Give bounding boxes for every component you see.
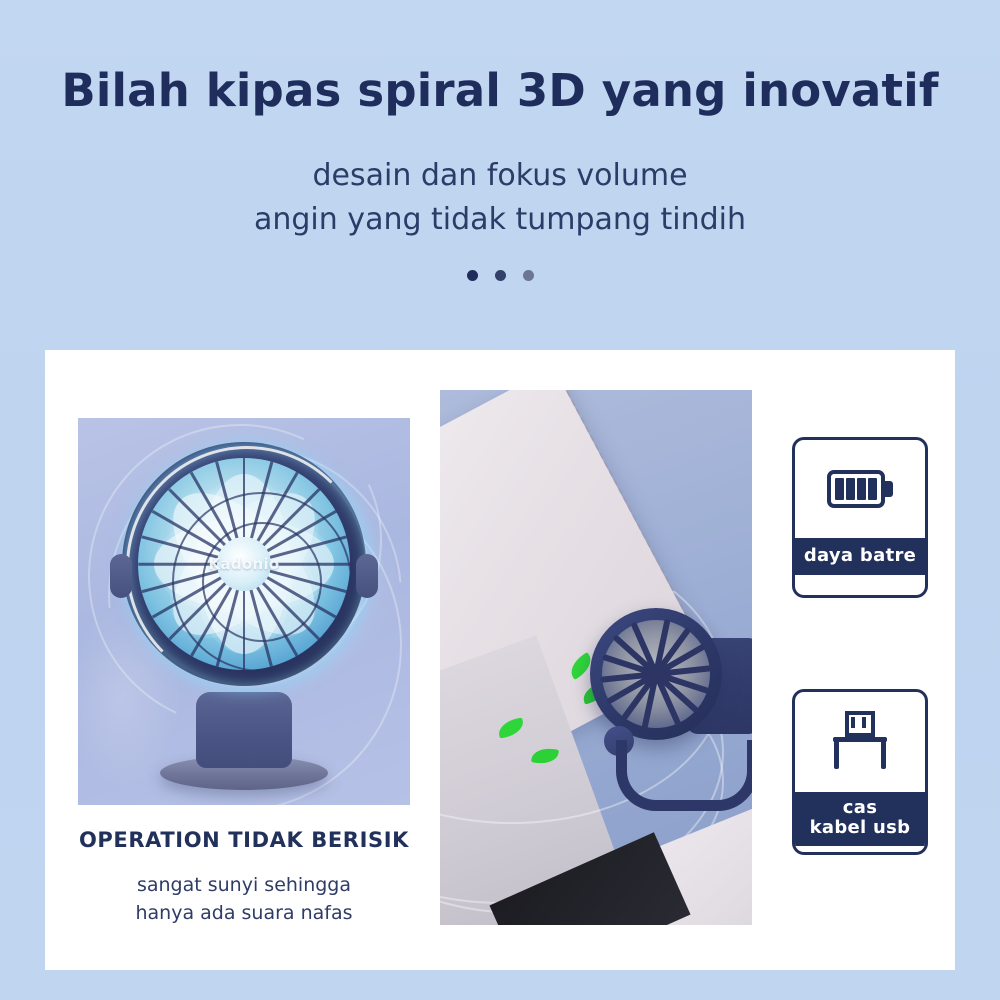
photo-caption-line-2: hanya ada suara nafas	[78, 902, 410, 924]
feature-badge-usb-label-line-2: kabel usb	[797, 818, 923, 838]
page-subline-1: desain dan fokus volume	[0, 158, 1000, 193]
photo-caption-line-1: sangat sunyi sehingga	[78, 874, 410, 896]
feature-badge-usb-label-line-1: cas	[797, 798, 923, 818]
fan-pivot-right	[356, 554, 378, 598]
fan-pivot-left	[110, 554, 132, 598]
page-headline: Bilah kipas spiral 3D yang inovatif	[0, 64, 1000, 117]
clip-fan-clamp	[616, 740, 752, 811]
glow-ring	[126, 446, 368, 688]
clip-fan-illustration	[590, 608, 752, 808]
feature-badge-battery: daya batre	[792, 437, 928, 598]
dot-icon	[467, 270, 478, 281]
desk-fan-illustration: Kadonio	[108, 436, 380, 796]
usb-plug-icon	[795, 692, 925, 792]
clip-fan-head	[590, 608, 722, 740]
dot-icon	[523, 270, 534, 281]
feature-badge-usb: cas kabel usb	[792, 689, 928, 855]
product-photo-desk-fan: Kadonio	[78, 418, 410, 805]
dot-icon	[495, 270, 506, 281]
battery-icon	[795, 440, 925, 538]
feature-badge-battery-label: daya batre	[795, 538, 925, 575]
decorative-dots	[0, 270, 1000, 281]
product-photo-stroller-fan	[440, 390, 752, 925]
page-subline-2: angin yang tidak tumpang tindih	[0, 202, 1000, 237]
fan-head: Kadonio	[122, 442, 366, 686]
clip-fan-blades	[602, 620, 710, 728]
product-promo-page: Bilah kipas spiral 3D yang inovatif desa…	[0, 0, 1000, 1000]
fan-neck	[196, 692, 292, 768]
photo-caption-title: OPERATION TIDAK BERISIK	[78, 828, 410, 852]
feature-badge-usb-label: cas kabel usb	[795, 792, 925, 846]
